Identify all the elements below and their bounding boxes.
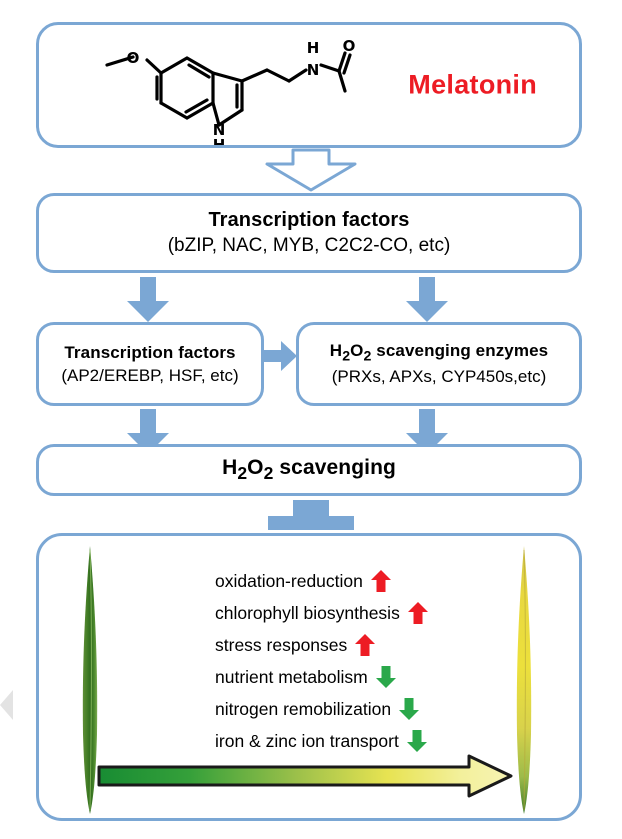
connector-tf-left-to-enzymes — [264, 341, 298, 376]
up-arrow-icon — [407, 601, 429, 625]
down-arrow-icon — [406, 729, 428, 753]
svg-text:H: H — [213, 136, 226, 145]
connector-tf-to-enzymes — [404, 277, 450, 328]
scavenging-title-suffix: scavenging — [273, 456, 395, 479]
senescence-timeline-arrow — [97, 754, 515, 803]
connector-melatonin-to-transcription-factors — [263, 148, 359, 197]
list-item: iron & zinc ion transport — [215, 726, 505, 756]
outcome-list: oxidation-reduction chlorophyll biosynth… — [215, 566, 505, 758]
list-item: nitrogen remobilization — [215, 694, 505, 724]
scavenging-title-sub1: 2 — [237, 463, 247, 483]
melatonin-chemical-structure: O N H O N H — [99, 33, 359, 150]
connector-scavenging-to-outcome — [268, 500, 354, 535]
transcription-factors-ap2-detail: (AP2/EREBP, HSF, etc) — [61, 366, 238, 386]
connector-tf-to-tf-left — [125, 277, 171, 328]
melatonin-label: Melatonin — [408, 70, 537, 101]
scavenging-title-mid: O — [247, 456, 263, 479]
h2o2-scavenging-title: H2O2 scavenging — [222, 456, 396, 484]
transcription-factors-title: Transcription factors — [208, 209, 409, 232]
transcription-factors-detail: (bZIP, NAC, MYB, C2C2-CO, etc) — [168, 235, 451, 257]
page-edge-artifact — [0, 688, 14, 722]
scavenging-title-sub2: 2 — [264, 463, 274, 483]
svg-text:O: O — [343, 37, 356, 55]
svg-text:H: H — [307, 39, 320, 57]
figure-canvas: O N H O N H Melatonin Transcription fact… — [0, 0, 622, 839]
svg-text:O: O — [127, 49, 140, 67]
list-item: oxidation-reduction — [215, 566, 505, 596]
h2o2-scavenging-enzymes-detail: (PRXs, APXs, CYP450s,etc) — [332, 367, 546, 387]
transcription-factors-box: Transcription factors (bZIP, NAC, MYB, C… — [36, 193, 582, 273]
svg-text:N: N — [307, 61, 320, 79]
down-arrow-icon — [398, 697, 420, 721]
outcome-label: chlorophyll biosynthesis — [215, 603, 400, 624]
enzymes-title-prefix: H — [330, 341, 342, 360]
up-arrow-icon — [370, 569, 392, 593]
outcome-label: nutrient metabolism — [215, 667, 368, 688]
enzymes-title-sub1: 2 — [342, 348, 350, 364]
h2o2-scavenging-enzymes-box: H2O2 scavenging enzymes (PRXs, APXs, CYP… — [296, 322, 582, 406]
up-arrow-icon — [354, 633, 376, 657]
list-item: nutrient metabolism — [215, 662, 505, 692]
transcription-factors-ap2-box: Transcription factors (AP2/EREBP, HSF, e… — [36, 322, 264, 406]
outcome-label: stress responses — [215, 635, 347, 656]
h2o2-scavenging-enzymes-title: H2O2 scavenging enzymes — [330, 341, 548, 364]
list-item: chlorophyll biosynthesis — [215, 598, 505, 628]
enzymes-title-suffix: scavenging enzymes — [371, 341, 548, 360]
transcription-factors-ap2-title: Transcription factors — [64, 343, 235, 363]
outcome-panel: oxidation-reduction chlorophyll biosynth… — [36, 533, 582, 821]
list-item: stress responses — [215, 630, 505, 660]
outcome-label: oxidation-reduction — [215, 571, 363, 592]
h2o2-scavenging-box: H2O2 scavenging — [36, 444, 582, 496]
down-arrow-icon — [375, 665, 397, 689]
scavenging-title-prefix: H — [222, 456, 237, 479]
outcome-label: iron & zinc ion transport — [215, 731, 399, 752]
melatonin-box: O N H O N H Melatonin — [36, 22, 582, 148]
enzymes-title-mid: O — [350, 341, 363, 360]
outcome-label: nitrogen remobilization — [215, 699, 391, 720]
